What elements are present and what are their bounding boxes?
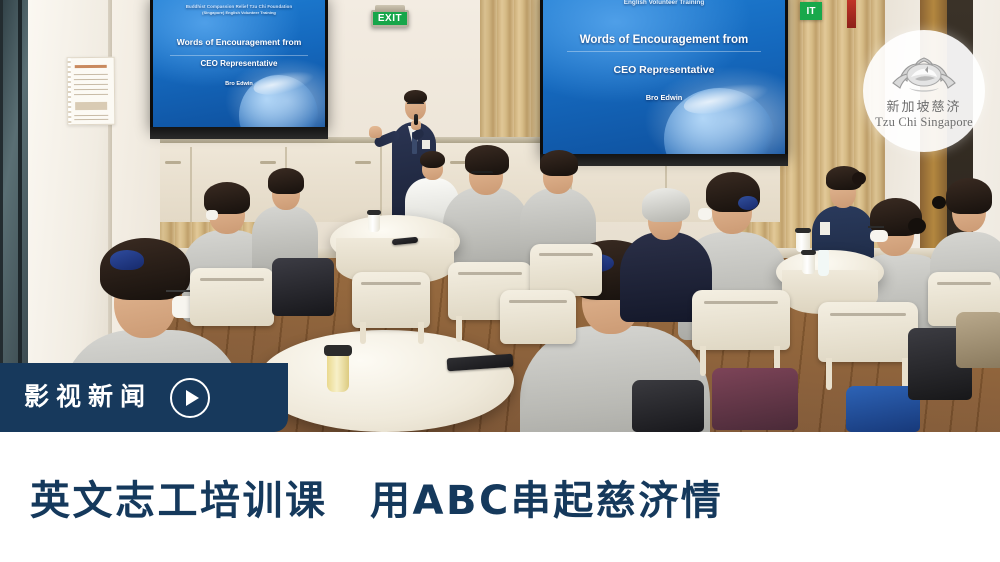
face-mask — [206, 210, 218, 220]
slide-left-sub: (Singapore) English Volunteer Training — [153, 10, 325, 15]
slide-left-line2: CEO Representative — [153, 59, 325, 69]
drink-cup-right-2 — [802, 252, 815, 274]
it-sign-label: IT — [807, 6, 816, 17]
slide-left-line1: Words of Encouragement from — [153, 37, 325, 48]
glass-partition — [0, 0, 30, 380]
play-icon[interactable] — [170, 378, 210, 418]
slide-left-line3: Bro Edwin — [153, 81, 325, 88]
wall-poster — [67, 57, 116, 125]
plastic-chair-6 — [818, 302, 918, 362]
cup-lid-back — [367, 210, 381, 215]
tzu-chi-lotus-boat-icon — [887, 52, 961, 98]
plastic-chair-4 — [530, 244, 602, 296]
blue-hair-scrunchie — [110, 250, 144, 270]
backpack-maroon — [712, 368, 798, 430]
slide-right-line2: CEO Representative — [543, 64, 785, 77]
plastic-chair-8 — [500, 290, 576, 344]
cup-lid-right-2 — [801, 250, 816, 255]
slide-right-sub: English Volunteer Training — [543, 0, 785, 7]
blue-hair-scrunchie — [738, 196, 758, 210]
plastic-chair-1 — [190, 268, 274, 326]
backpack-left-front — [272, 258, 334, 316]
headline-bar: 英文志工培训课 用ABC串起慈济情 — [0, 432, 1000, 562]
face-mask — [870, 230, 888, 242]
exit-sign: EXIT — [371, 10, 409, 27]
video-news-kicker-banner[interactable]: 影视新闻 — [0, 363, 288, 432]
water-bottle-right — [818, 250, 829, 276]
kicker-label: 影视新闻 — [24, 385, 152, 410]
slide-right-line1: Words of Encouragement from — [543, 33, 785, 47]
name-badge — [820, 222, 830, 235]
drink-cup-right-1 — [796, 230, 810, 252]
logo-name-en: Tzu Chi Singapore — [875, 115, 973, 130]
hair-bun — [852, 172, 866, 185]
tzu-chi-logo-badge: 新加坡慈济 Tzu Chi Singapore — [863, 30, 985, 152]
it-sign: IT — [800, 2, 822, 20]
plastic-chair-2 — [352, 272, 430, 328]
projector-screen-right: (Singapore) English Volunteer Training W… — [540, 0, 788, 154]
hair-bun — [908, 218, 926, 234]
backpack-black — [632, 380, 704, 432]
cup-lid-front — [324, 345, 352, 356]
microphone — [414, 114, 418, 125]
hair-bun — [932, 196, 946, 209]
page-title: 英文志工培训课 用ABC串起慈济情 — [30, 468, 723, 526]
slide-right-line3: Bro Edwin — [543, 93, 785, 102]
bag-khaki-right — [956, 312, 1000, 368]
logo-name-cn: 新加坡慈济 — [886, 101, 961, 115]
plastic-chair-5 — [692, 290, 790, 350]
projector-screen-left: Buddhist Compassion Relief Tzu Chi Found… — [150, 0, 328, 127]
exit-sign-label: EXIT — [378, 13, 402, 24]
round-table-front — [258, 330, 514, 432]
cup-lid-right-1 — [795, 228, 811, 233]
drink-cup-back — [368, 212, 380, 232]
wall-red-marker — [847, 0, 856, 28]
drink-cup-front — [327, 352, 349, 392]
